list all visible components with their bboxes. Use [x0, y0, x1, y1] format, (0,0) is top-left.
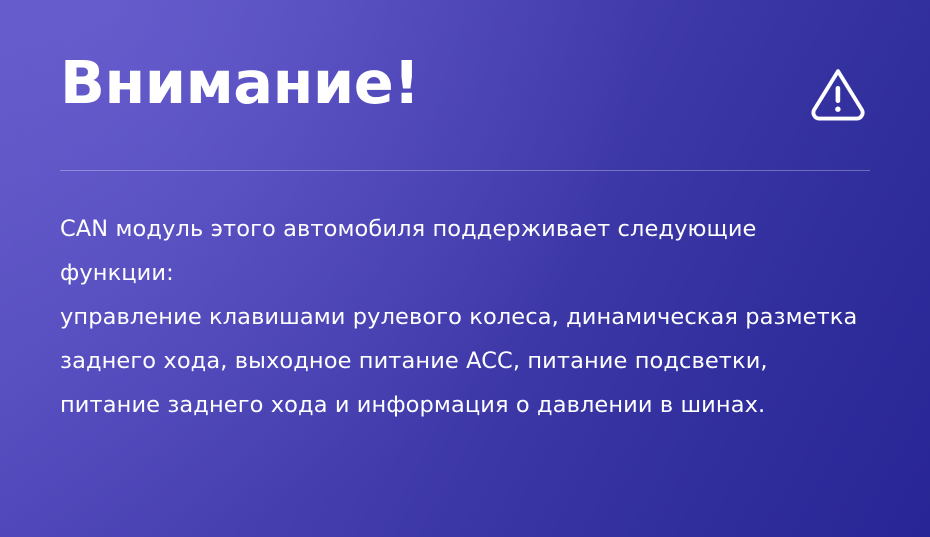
banner-content: Внимание! CAN модуль этого автомобиля по… [0, 0, 930, 537]
page-title: Внимание! [60, 53, 420, 118]
body-paragraph-2: управление клавишами рулевого колеса, ди… [60, 295, 870, 427]
body-paragraph-1: CAN модуль этого автомобиля поддерживает… [60, 207, 870, 295]
warning-banner: Внимание! CAN модуль этого автомобиля по… [0, 0, 930, 537]
banner-body: CAN модуль этого автомобиля поддерживает… [60, 171, 870, 427]
banner-header: Внимание! [60, 0, 870, 170]
warning-triangle-icon [806, 62, 870, 126]
